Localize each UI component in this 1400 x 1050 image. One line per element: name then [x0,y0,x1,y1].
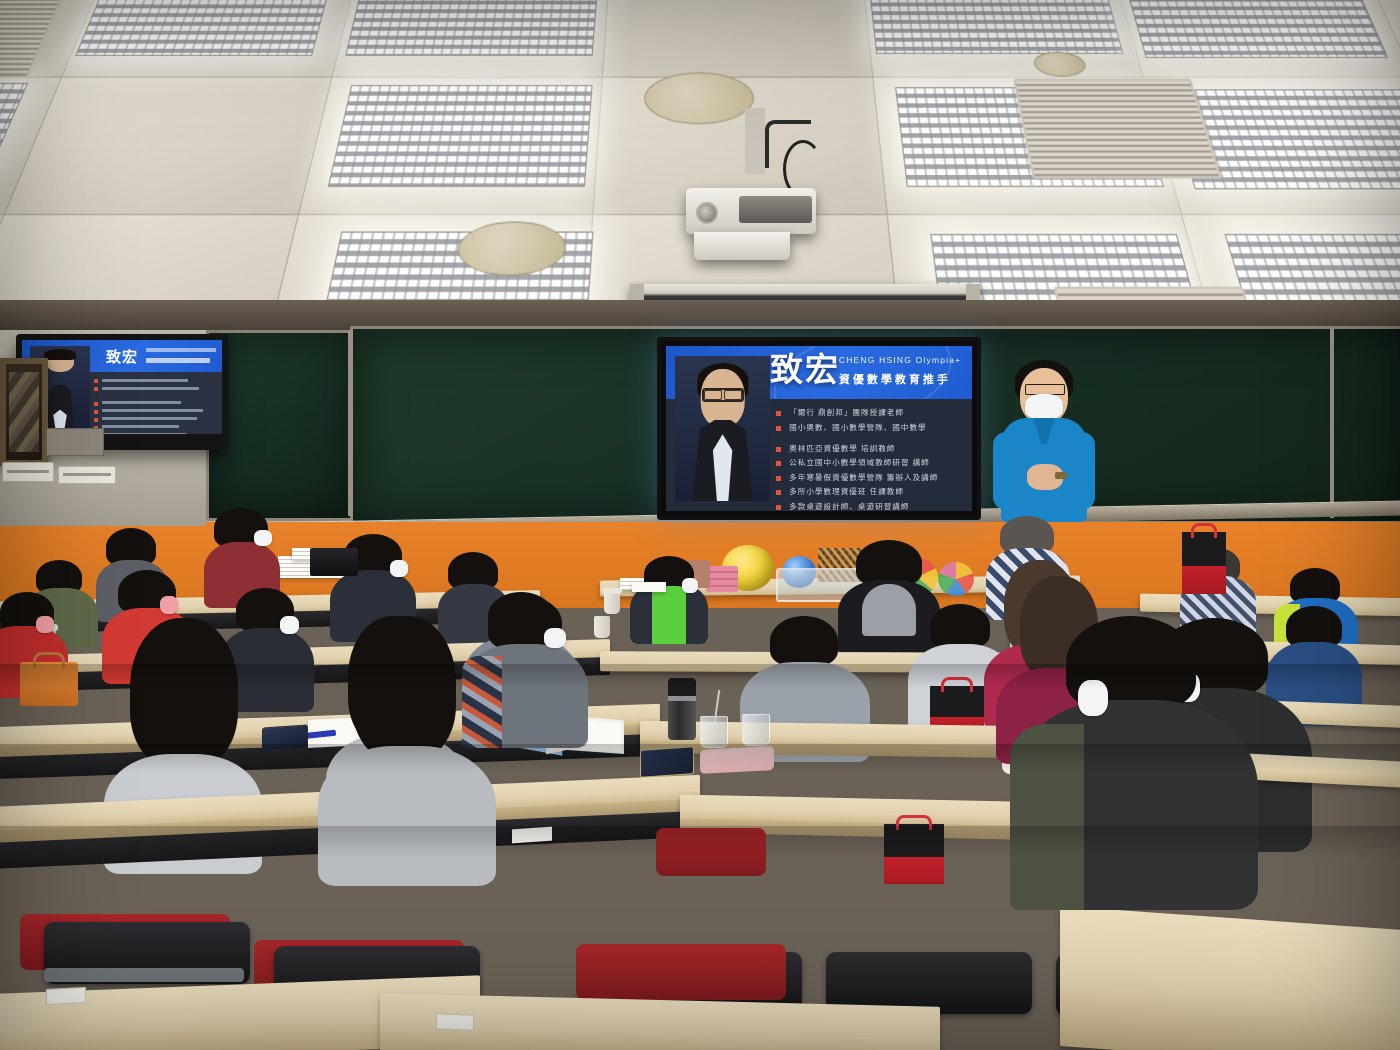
papers-on-desk [632,582,666,592]
tier-shadow [0,664,1400,688]
plastic-drink-cup [742,714,770,746]
desk-row-bottom-far-right [1060,906,1400,1050]
ceiling-light [345,0,600,56]
ceiling-projector [686,188,816,234]
chalkboard-left [206,330,358,521]
cup-lid [602,588,622,594]
paper-cup [594,616,610,638]
slide-portrait-photo [675,356,770,501]
paper-cup [604,592,620,614]
presenter-left-arm [993,432,1019,510]
desk-number-tag [436,1013,474,1030]
slide-bullet: 多所小學數理資優班 任課教師 [776,486,963,497]
tier-shadow [0,744,1400,772]
tier-shadow [0,826,1400,858]
desk-number-tag [46,987,86,1005]
presenter-face-mask [1025,394,1063,420]
classroom-photo: 致宏 [0,0,1400,1050]
wall-panel-box [46,428,104,456]
projector-lens-housing [694,232,790,260]
seat-cushion [576,944,786,1000]
presenter-wristwatch [1055,472,1067,479]
ceiling-light [75,0,335,56]
slide-tagline-zh: 資優數學教育推手 [839,371,951,387]
air-vent [1013,79,1221,179]
chalkboard-divider [348,330,353,516]
ceiling-light [1120,0,1388,58]
projected-slide: 致宏 CHENG HSING Olympia+ 資優數學教育推手 「爾行 鼎創邦… [657,337,981,520]
slide-bullet: 多款桌遊設計師、桌遊研習講師 [776,501,963,511]
seat-frame [44,968,244,982]
pink-stacking-blocks [706,566,738,592]
red-gift-bag [1182,532,1226,594]
slide-bullet: 「爾行 鼎創邦」團隊授課老師 [776,407,963,418]
presenter-right-arm [1069,432,1095,510]
slide-bullet-list: 「爾行 鼎創邦」團隊授課老師 國小奧數、國小數學營隊、國中數學 奧林匹亞資優數學… [776,407,963,511]
chalkboard-divider [1330,328,1334,518]
ceiling-light [328,85,593,187]
laptop-bag [310,548,358,576]
slide-bullet: 國小奧數、國小數學營隊、國中數學 [776,422,963,433]
wall-sign-notice [2,462,54,482]
slide-name-zh: 致宏 [770,353,840,387]
tv-screen: 致宏 [22,340,222,434]
slide-bullet: 公私立國中小數學領域教師研習 講師 [776,457,963,468]
portrait-glasses-icon [702,388,744,402]
projector-mount [745,108,765,174]
projector-ports [739,196,812,223]
ceiling-speaker [643,72,754,124]
wall-sign-evacuation [58,466,116,484]
slide-bullet: 多年寒暑假資優數學營隊 籌辦人及講師 [776,472,963,483]
desk-row-far-right [1140,594,1400,617]
wall-artwork [0,358,48,466]
ceiling-light [866,0,1123,54]
projector-lens-icon [696,202,718,224]
geometric-ball-multicolor [938,562,974,596]
slide-name-en: CHENG HSING Olympia+ [839,355,961,365]
slide-bullet: 奧林匹亞資優數學 培訓教師 [776,443,963,454]
